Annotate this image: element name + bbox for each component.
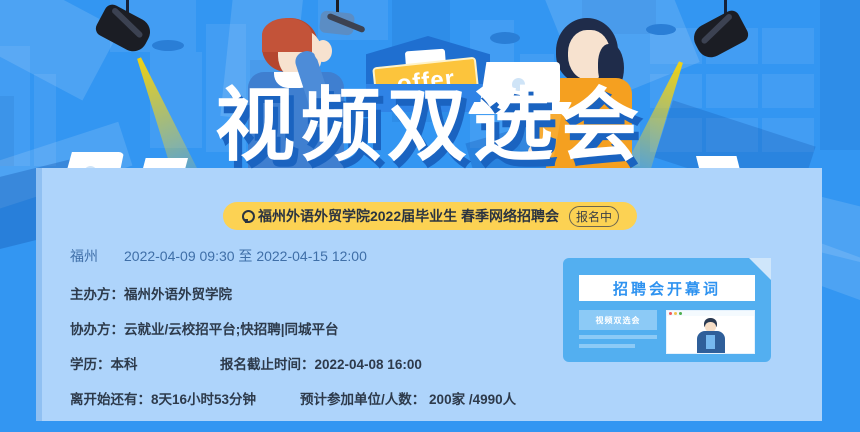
organizer-row: 主办方：福州外语外贸学院 [70,283,540,303]
countdown-label: 离开始还有：8天16小时53分钟 [70,388,256,408]
deadline-label: 报名截止时间：2022-04-08 16:00 [220,353,422,373]
hand [314,40,332,62]
decorative-disc-left [152,40,184,51]
opening-speech-title: 招聘会开幕词 [579,275,755,301]
speaker-avatar [696,318,726,354]
spotlight-left [96,0,156,56]
organizer-label: 主办方：福州外语外贸学院 [70,283,232,303]
event-date-range: 2022-04-09 09:30 至 2022-04-15 12:00 [124,246,367,266]
event-info: 福州 2022-04-09 09:30 至 2022-04-15 12:00 主… [70,246,540,423]
education-deadline-row: 学历：本科 报名截止时间：2022-04-08 16:00 [70,353,540,373]
recruitment-banner: offer [0,0,860,432]
video-chip-label: 视频双选会 [579,310,657,330]
expected-label: 预计参加单位/人数： 200家 /4990人 [300,388,516,408]
event-date-row: 福州 2022-04-09 09:30 至 2022-04-15 12:00 [70,246,540,266]
education-label: 学历：本科 [70,353,220,373]
coorganizer-row: 协办方：云就业/云校招平台;快招聘|同城平台 [70,318,540,338]
video-thumbnail[interactable] [666,310,755,354]
spotlight-right [694,0,754,62]
status-badge: 报名中 [569,206,619,227]
event-badge-text: 福州外语外贸学院2022届毕业生 春季网络招聘会 [258,206,559,226]
location-pin-icon [241,210,252,223]
coorganizer-label: 协办方：云就业/云校招平台;快招聘|同城平台 [70,318,339,338]
countdown-expected-row: 离开始还有：8天16小时53分钟 预计参加单位/人数： 200家 /4990人 [70,388,540,408]
placeholder-line [579,344,635,348]
event-city: 福州 [70,246,98,266]
opening-speech-card[interactable]: 招聘会开幕词 视频双选会 [563,258,771,362]
decorative-disc-center [490,32,520,44]
placeholder-line [579,335,657,339]
page-title: 视频双选会 [0,86,860,166]
event-badge: 福州外语外贸学院2022届毕业生 春季网络招聘会 报名中 [223,202,637,230]
